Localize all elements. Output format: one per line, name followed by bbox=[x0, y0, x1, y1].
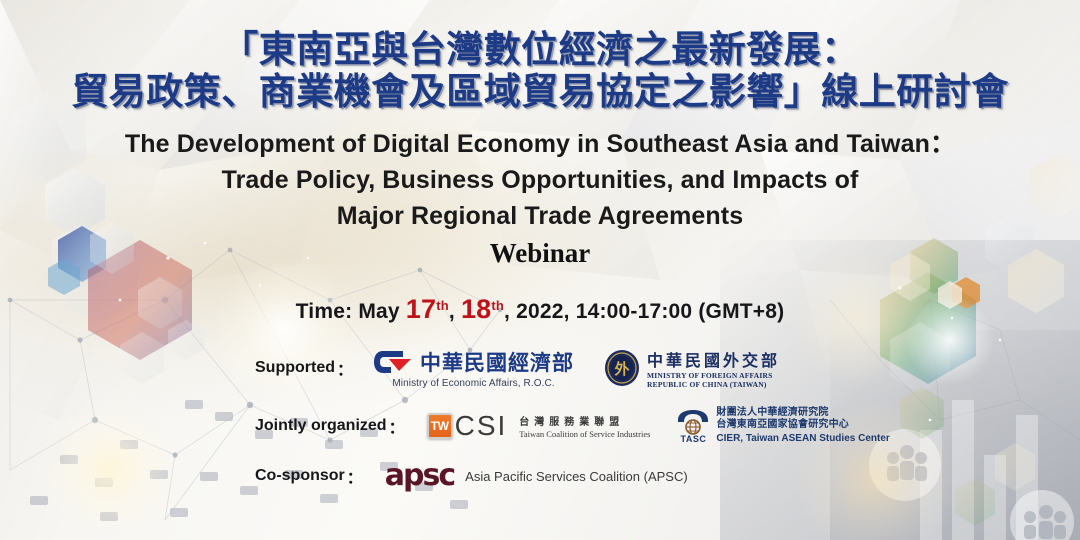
mofa-emblem-icon: 外 bbox=[604, 349, 640, 387]
title-chinese-line1: 「東南亞與台灣數位經濟之最新發展： bbox=[0, 0, 1080, 70]
event-time-rest: , 2022, 14:00-17:00 (GMT+8) bbox=[504, 300, 784, 323]
supported-row: Supported ： 中華民國經濟部 Ministry of Economic… bbox=[0, 347, 1080, 389]
supported-colon: ： bbox=[337, 356, 353, 380]
supported-label: Supported bbox=[255, 359, 335, 377]
date-separator: , bbox=[449, 300, 455, 323]
twcsi-name-zh: 台灣服務業聯盟 bbox=[519, 413, 650, 428]
apsc-logo: apsc Asia Pacific Services Coalition (AP… bbox=[385, 461, 688, 491]
event-day-1: 17 bbox=[406, 294, 436, 324]
event-day-2: 18 bbox=[461, 294, 491, 324]
tasc-name-zh-line2: 台灣東南亞國家協會研究中心 bbox=[716, 419, 889, 431]
apsc-wordmark: apsc bbox=[385, 461, 454, 491]
jointly-organized-label: Jointly organized bbox=[255, 417, 387, 435]
webinar-poster: 「東南亞與台灣數位經濟之最新發展： 貿易政策、商業機會及區域貿易協定之影響」線上… bbox=[0, 0, 1080, 540]
tasc-name-en: CIER, Taiwan ASEAN Studies Center bbox=[716, 432, 889, 445]
twcsi-key-icon: TW bbox=[427, 413, 453, 439]
co-sponsor-colon: ： bbox=[347, 464, 363, 488]
jointly-organized-colon: ： bbox=[389, 414, 405, 438]
mofa-logo: 外 中華民國外交部 MINISTRY OF FOREIGN AFFAIRS RE… bbox=[604, 347, 780, 389]
title-english-line1: The Development of Digital Economy in So… bbox=[0, 126, 1080, 162]
tasc-name-zh-line1: 財團法人中華經濟研究院 bbox=[716, 407, 889, 419]
twcsi-name-en: Taiwan Coalition of Service Industries bbox=[519, 429, 650, 439]
mofa-name-en-line2: REPUBLIC OF CHINA (TAIWAN) bbox=[647, 380, 780, 389]
co-sponsor-logos: apsc Asia Pacific Services Coalition (AP… bbox=[367, 461, 688, 491]
mofa-name-zh: 中華民國外交部 bbox=[647, 347, 780, 371]
tasc-globe-icon bbox=[676, 409, 710, 435]
mofa-name-en-line1: MINISTRY OF FOREIGN AFFAIRS bbox=[647, 371, 780, 380]
jointly-organized-row: Jointly organized ： TW CSI 台灣服務業聯盟 Taiwa… bbox=[0, 407, 1080, 445]
co-sponsor-label: Co-sponsor bbox=[255, 467, 345, 485]
twcsi-wordmark: CSI bbox=[455, 410, 508, 442]
moea-name-en: Ministry of Economic Affairs, R.O.C. bbox=[392, 378, 554, 389]
moea-swoosh-icon bbox=[373, 349, 413, 375]
time-prefix: Time: May bbox=[296, 300, 400, 323]
event-time-line: Time: May17th,18th, 2022, 14:00-17:00 (G… bbox=[0, 294, 1080, 325]
title-chinese-line2: 貿易政策、商業機會及區域貿易協定之影響」線上研討會 bbox=[0, 70, 1080, 114]
moea-logo: 中華民國經濟部 Ministry of Economic Affairs, R.… bbox=[373, 347, 574, 389]
title-english-line2: Trade Policy, Business Opportunities, an… bbox=[0, 162, 1080, 198]
title-english-line3: Major Regional Trade Agreements bbox=[0, 198, 1080, 234]
apsc-name-en: Asia Pacific Services Coalition (APSC) bbox=[465, 469, 688, 484]
twcsi-logo: TW CSI 台灣服務業聯盟 Taiwan Coalition of Servi… bbox=[427, 410, 651, 442]
svg-text:外: 外 bbox=[614, 360, 630, 378]
moea-name-zh: 中華民國經濟部 bbox=[420, 347, 574, 377]
event-day-1-suffix: th bbox=[436, 298, 449, 313]
jointly-organized-logos: TW CSI 台灣服務業聯盟 Taiwan Coalition of Servi… bbox=[409, 407, 890, 445]
twcsi-key-text: TW bbox=[431, 419, 449, 433]
event-day-2-suffix: th bbox=[491, 298, 504, 313]
co-sponsor-row: Co-sponsor ： apsc Asia Pacific Services … bbox=[0, 461, 1080, 491]
tasc-wordmark: TASC bbox=[680, 434, 706, 444]
title-english-webinar: Webinar bbox=[0, 236, 1080, 270]
tasc-logo: TASC 財團法人中華經濟研究院 台灣東南亞國家協會研究中心 CIER, Tai… bbox=[676, 407, 889, 445]
supported-logos: 中華民國經濟部 Ministry of Economic Affairs, R.… bbox=[357, 347, 780, 389]
